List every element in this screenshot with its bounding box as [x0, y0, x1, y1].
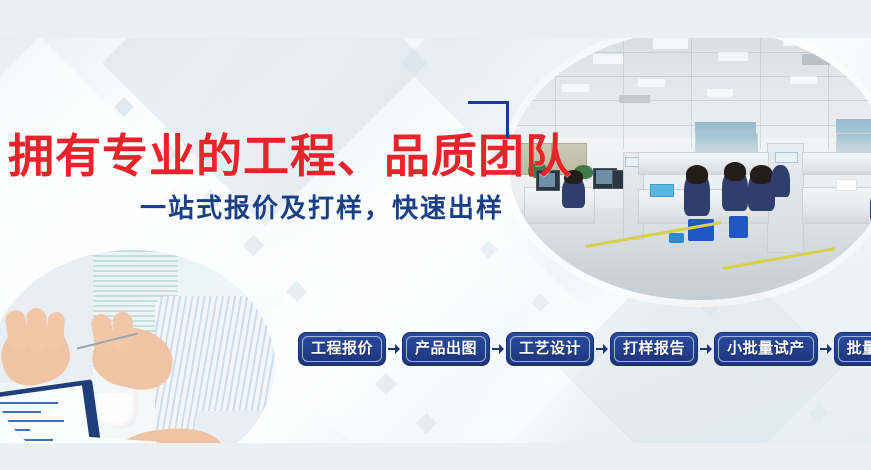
- top-spacer-band: [0, 0, 871, 38]
- ceiling-light: [562, 84, 589, 92]
- report-line: [0, 402, 58, 404]
- process-step-label: 产品出图: [415, 341, 477, 356]
- flow-arrow-icon: [386, 339, 402, 359]
- background-diamond-small: [809, 403, 829, 423]
- corner-bracket-decoration: [468, 101, 509, 138]
- office-stool: [729, 216, 748, 238]
- report-line: [0, 420, 64, 422]
- process-step-label: 工艺设计: [519, 341, 581, 356]
- background-diamond-small: [375, 373, 398, 396]
- ceiling-light: [638, 79, 665, 87]
- flow-arrow-icon: [818, 339, 834, 359]
- process-step-label: 工程报价: [311, 341, 373, 356]
- ceiling-light: [783, 38, 817, 46]
- process-step-label: 批量量产: [847, 341, 871, 356]
- page-subtitle: 一站式报价及打样，快速出样: [140, 188, 504, 225]
- process-step-1[interactable]: 工程报价: [298, 332, 386, 366]
- coffee-cup: [98, 393, 138, 430]
- promo-banner: 拥有专业的工程、品质团队 一站式报价及打样，快速出样 工程报价 产品出图 工艺设…: [0, 0, 871, 470]
- background-diamond-small: [479, 240, 497, 258]
- flow-arrow-icon: [594, 339, 610, 359]
- flow-arrow-icon: [698, 339, 714, 359]
- ceiling-vent: [802, 54, 844, 65]
- monitor-screen: [596, 170, 611, 184]
- window-blind: [836, 119, 871, 133]
- office-worker: [771, 165, 790, 197]
- partition-label: [775, 152, 798, 163]
- process-step-label: 小批量试产: [727, 341, 805, 356]
- ceiling-light: [790, 76, 817, 84]
- background-diamond-small: [700, 297, 720, 317]
- process-step-3[interactable]: 工艺设计: [506, 332, 594, 366]
- background-diamond-small: [286, 281, 307, 302]
- desk-paper: [836, 179, 857, 192]
- report-line: [0, 411, 41, 413]
- finger: [26, 307, 48, 352]
- meeting-photo: [0, 250, 275, 443]
- workbench-right: [802, 152, 871, 176]
- ceiling-vent: [619, 95, 649, 103]
- process-flow: 工程报价 产品出图 工艺设计 打样报告 小批量试产 批量量产: [298, 332, 871, 366]
- worker-hair: [750, 165, 773, 184]
- window-blind: [695, 122, 756, 136]
- bottom-spacer-band: [0, 443, 871, 470]
- worker-hair: [686, 165, 709, 184]
- finger: [46, 312, 66, 352]
- worker-hair: [724, 162, 747, 181]
- ceiling-light: [532, 38, 566, 49]
- background-diamond-small: [114, 97, 134, 117]
- finger: [112, 312, 133, 354]
- desk-tray: [650, 184, 675, 197]
- process-step-2[interactable]: 产品出图: [402, 332, 490, 366]
- background-diamond-small: [416, 413, 437, 434]
- workbench-right-lower: [802, 187, 871, 224]
- banner-stage: 拥有专业的工程、品质团队 一站式报价及打样，快速出样 工程报价 产品出图 工艺设…: [0, 38, 871, 443]
- process-step-4[interactable]: 打样报告: [610, 332, 698, 366]
- ceiling-light: [653, 38, 687, 49]
- report-line: [0, 439, 53, 441]
- office-stool: [669, 233, 684, 244]
- ceiling-light: [593, 54, 623, 63]
- report-line: [0, 429, 30, 431]
- process-step-5[interactable]: 小批量试产: [714, 332, 818, 366]
- process-step-6[interactable]: 批量量产: [834, 332, 871, 366]
- ceiling-light: [718, 52, 748, 61]
- ceiling-light: [707, 89, 734, 97]
- process-step-label: 打样报告: [623, 341, 685, 356]
- flow-arrow-icon: [490, 339, 506, 359]
